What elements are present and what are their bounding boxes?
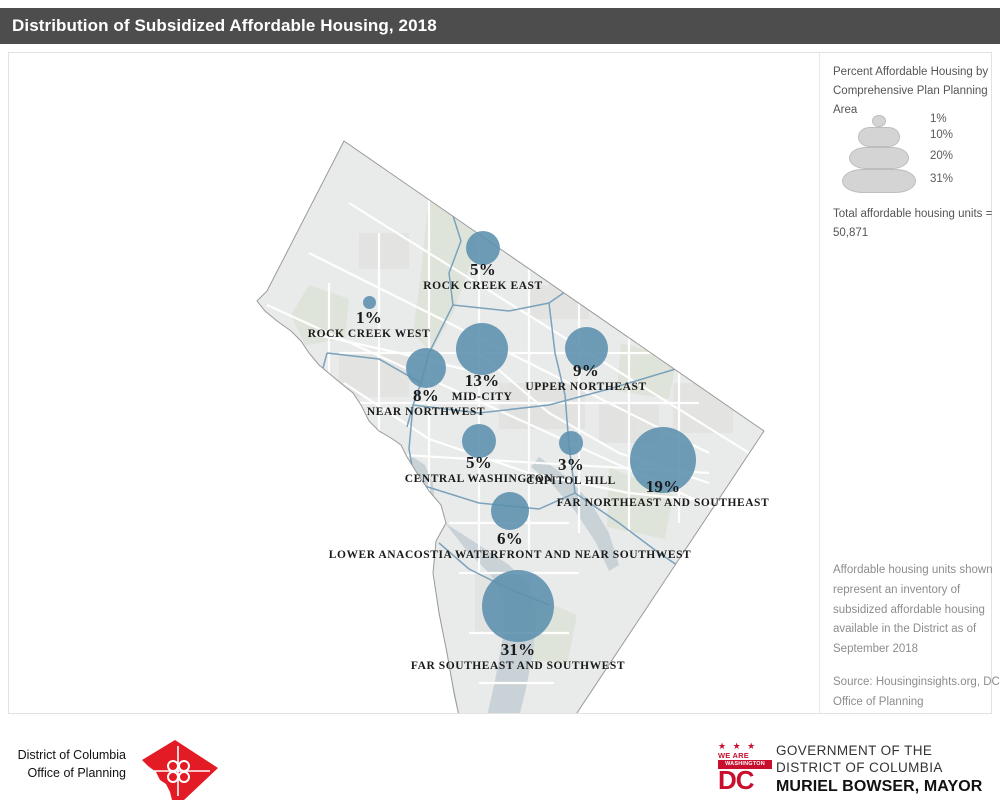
map-panel: 1%ROCK CREEK WEST5%ROCK CREEK EAST13%MID… xyxy=(8,52,992,714)
area-name: FAR NORTHEAST AND SOUTHEAST xyxy=(557,497,769,510)
gov-line-1: GOVERNMENT OF THE xyxy=(776,742,982,759)
legend-label-31pct: 31% xyxy=(930,173,953,185)
bubble-mid-city[interactable] xyxy=(456,323,508,375)
dcop-logo-text: District of Columbia Office of Planning xyxy=(8,746,126,782)
footer: District of Columbia Office of Planning … xyxy=(0,716,1000,800)
bubble-near-northwest[interactable] xyxy=(406,348,446,388)
map-label-far-southeast-and-southwest: 31%FAR SOUTHEAST AND SOUTHWEST xyxy=(411,641,625,673)
area-percent: 19% xyxy=(557,478,769,496)
area-percent: 31% xyxy=(411,641,625,659)
size-legend: 1%10%20%31% xyxy=(833,113,993,197)
legend-total-units: Total affordable housing units = 50,871 xyxy=(833,205,1000,243)
page-title: Distribution of Subsidized Affordable Ho… xyxy=(0,16,437,36)
area-percent: 9% xyxy=(525,362,646,380)
dcop-line-1: District of Columbia xyxy=(8,746,126,764)
title-bar: Distribution of Subsidized Affordable Ho… xyxy=(0,8,1000,44)
map-label-far-northeast-and-southeast: 19%FAR NORTHEAST AND SOUTHEAST xyxy=(557,478,769,510)
area-name: ROCK CREEK WEST xyxy=(308,328,430,341)
dcop-line-2: Office of Planning xyxy=(8,764,126,782)
area-percent: 6% xyxy=(329,530,691,548)
map-label-lower-anacostia-waterfront-and-near-southwest: 6%LOWER ANACOSTIA WATERFRONT AND NEAR SO… xyxy=(329,530,691,562)
area-name: NEAR NORTHWEST xyxy=(367,406,485,419)
bubble-capitol-hill[interactable] xyxy=(559,431,583,455)
choropleth-bubble-map[interactable]: 1%ROCK CREEK WEST5%ROCK CREEK EAST13%MID… xyxy=(9,53,819,713)
legend-title: Percent Affordable Housing by Comprehens… xyxy=(833,63,1000,120)
area-percent: 1% xyxy=(308,309,430,327)
area-percent: 8% xyxy=(367,387,485,405)
methodology-note: Affordable housing units shown represent… xyxy=(833,561,1000,660)
we-are-text: WE ARE xyxy=(718,751,772,760)
gov-line-2: DISTRICT OF COLUMBIA xyxy=(776,759,982,776)
area-name: UPPER NORTHEAST xyxy=(525,381,646,394)
map-label-rock-creek-west: 1%ROCK CREEK WEST xyxy=(308,309,430,341)
map-label-near-northwest: 8%NEAR NORTHWEST xyxy=(367,387,485,419)
source-note: Source: Housinginsights.org, DC Office o… xyxy=(833,673,1000,713)
legend-circle-1pct xyxy=(872,115,885,127)
gov-logo-text: GOVERNMENT OF THE DISTRICT OF COLUMBIA M… xyxy=(776,742,982,796)
area-percent: 5% xyxy=(423,261,542,279)
map-label-upper-northeast: 9%UPPER NORTHEAST xyxy=(525,362,646,394)
we-are-washington-dc-mark: ★ ★ ★ WE ARE WASHINGTON DC xyxy=(718,742,772,792)
legend-label-10pct: 10% xyxy=(930,129,953,141)
area-percent: 3% xyxy=(526,456,616,474)
area-name: FAR SOUTHEAST AND SOUTHWEST xyxy=(411,660,625,673)
bubble-lower-anacostia-waterfront-and-near-southwest[interactable] xyxy=(491,492,529,530)
legend-circle-31pct xyxy=(842,169,916,193)
bubble-rock-creek-west[interactable] xyxy=(363,296,376,309)
map-label-rock-creek-east: 5%ROCK CREEK EAST xyxy=(423,261,542,293)
area-name: ROCK CREEK EAST xyxy=(423,280,542,293)
dc-diamond-icon xyxy=(126,738,222,802)
stars-icon: ★ ★ ★ xyxy=(718,742,772,751)
legend-rail: Percent Affordable Housing by Comprehens… xyxy=(820,53,993,713)
dc-monogram: DC xyxy=(718,769,772,793)
legend-label-1pct: 1% xyxy=(930,113,947,125)
legend-label-20pct: 20% xyxy=(930,150,953,162)
area-name: LOWER ANACOSTIA WATERFRONT AND NEAR SOUT… xyxy=(329,549,691,562)
dc-office-of-planning-logo: District of Columbia Office of Planning xyxy=(8,736,248,796)
government-of-dc-logo: ★ ★ ★ WE ARE WASHINGTON DC GOVERNMENT OF… xyxy=(718,742,996,794)
gov-line-3: MURIEL BOWSER, MAYOR xyxy=(776,777,982,796)
legend-circle-10pct xyxy=(858,127,900,147)
legend-circle-20pct xyxy=(849,147,908,169)
bubble-far-southeast-and-southwest[interactable] xyxy=(482,570,554,642)
